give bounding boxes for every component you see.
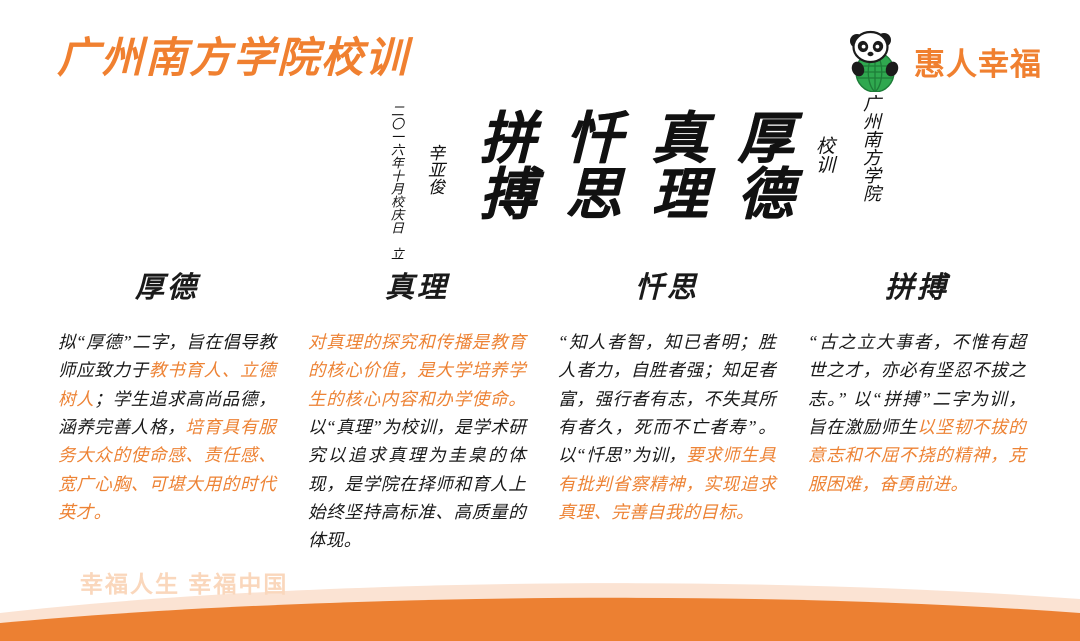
- motto-column-houde: 厚德 拟“厚德”二字，旨在倡导教师应致力于教书育人、立德树人；学生追求高尚品德，…: [42, 264, 292, 555]
- footer-slogan: 幸福人生 幸福中国: [80, 565, 288, 599]
- calligraphy-subject: 校训: [788, 92, 834, 174]
- calligraphy-word-zhenli: 真理: [616, 92, 702, 220]
- column-body: “古之立大事者，不惟有超世之才，亦必有坚忍不拔之志。” 以“拼搏”二字为训，旨在…: [808, 328, 1026, 498]
- calligraphy-word-chansi: 忏思: [530, 92, 616, 220]
- motto-column-pinbo: 拼搏 “古之立大事者，不惟有超世之才，亦必有坚忍不拔之志。” 以“拼搏”二字为训…: [792, 264, 1042, 555]
- motto-columns: 厚德 拟“厚德”二字，旨在倡导教师应致力于教书育人、立德树人；学生追求高尚品德，…: [42, 264, 1042, 555]
- column-heading: 忏思: [635, 264, 699, 306]
- calligraphy-plate: 广州南方学院 校训 厚德 真理 忏思 拼搏 辛亚俊 二〇一六年十月校庆日 立: [320, 92, 880, 262]
- motto-column-chansi: 忏思 “知人者智，知已者明；胜人者力，自胜者强；知足者富，强行者有志，不失其所有…: [542, 264, 792, 555]
- brand-name: 惠人幸福: [914, 39, 1042, 84]
- column-heading: 真理: [385, 264, 449, 306]
- brand-logo-group: 惠人幸福: [844, 28, 1042, 94]
- calligraphy-date-inscription: 二〇一六年十月校庆日 立: [370, 92, 404, 260]
- text-segment: 以“真理”为校训，是学术研究以追求真理为圭臬的体现，是学院在择师和育人上始终坚持…: [308, 417, 526, 550]
- column-body: 对真理的探究和传播是教育的核心价值，是大学培养学生的核心内容和办学使命。以“真理…: [308, 328, 526, 555]
- panda-globe-icon: [844, 28, 906, 94]
- text-segment-highlight: 对真理的探究和传播是教育的核心价值，是大学培养学生的核心内容和办学使命。: [308, 332, 526, 409]
- column-body: “知人者智，知已者明；胜人者力，自胜者强；知足者富，强行者有志，不失其所有者久，…: [558, 328, 776, 526]
- column-body: 拟“厚德”二字，旨在倡导教师应致力于教书育人、立德树人；学生追求高尚品德，涵养完…: [58, 328, 276, 526]
- slide-root: 广州南方学院校训 惠人幸福 广州南方学院: [0, 0, 1080, 641]
- calligraphy-signature: 辛亚俊: [404, 92, 444, 195]
- column-heading: 厚德: [135, 264, 199, 306]
- motto-column-zhenli: 真理 对真理的探究和传播是教育的核心价值，是大学培养学生的核心内容和办学使命。以…: [292, 264, 542, 555]
- page-title: 广州南方学院校训: [57, 36, 409, 82]
- column-heading: 拼搏: [885, 264, 949, 306]
- calligraphy-word-houde: 厚德: [702, 92, 788, 220]
- calligraphy-word-pinbo: 拼搏: [444, 92, 530, 220]
- calligraphy-org-name: 广州南方学院: [834, 92, 880, 202]
